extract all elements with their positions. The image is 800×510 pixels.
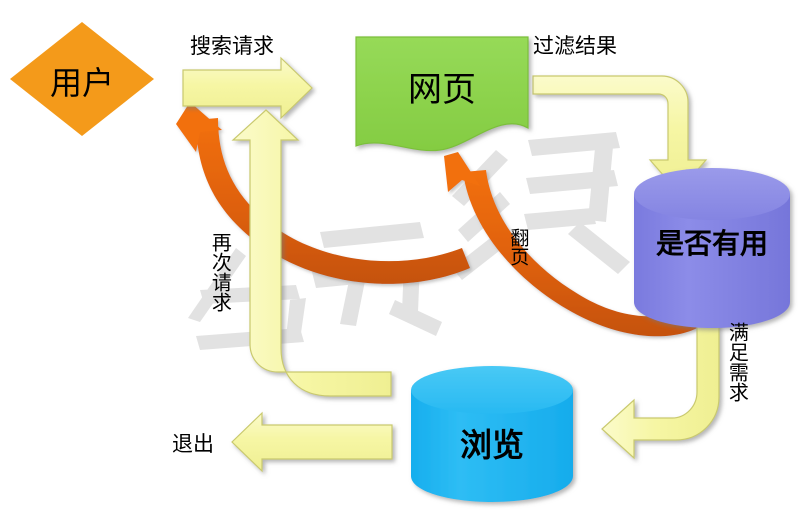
node-webpage[interactable]	[356, 37, 528, 151]
flowchart-canvas: 用户 网页 是否有用 浏览 搜索请求 过滤结果 满足需求 再次请求 退出 翻页	[0, 0, 800, 510]
edge-label-filter-results: 过滤结果	[533, 30, 617, 60]
edge-label-page-turn: 翻页	[508, 228, 527, 266]
edge-search-request-arrow	[183, 58, 312, 118]
node-user[interactable]	[10, 22, 154, 136]
edge-label-request-again: 再次请求	[210, 232, 230, 312]
node-browse[interactable]	[411, 366, 573, 502]
shapes-layer	[0, 0, 800, 510]
edge-exit-arrow	[232, 413, 392, 471]
edge-label-search-request: 搜索请求	[190, 30, 274, 60]
node-useful[interactable]	[634, 168, 790, 328]
edge-label-exit: 退出	[172, 428, 214, 458]
edge-label-meets-need: 满足需求	[727, 322, 747, 402]
